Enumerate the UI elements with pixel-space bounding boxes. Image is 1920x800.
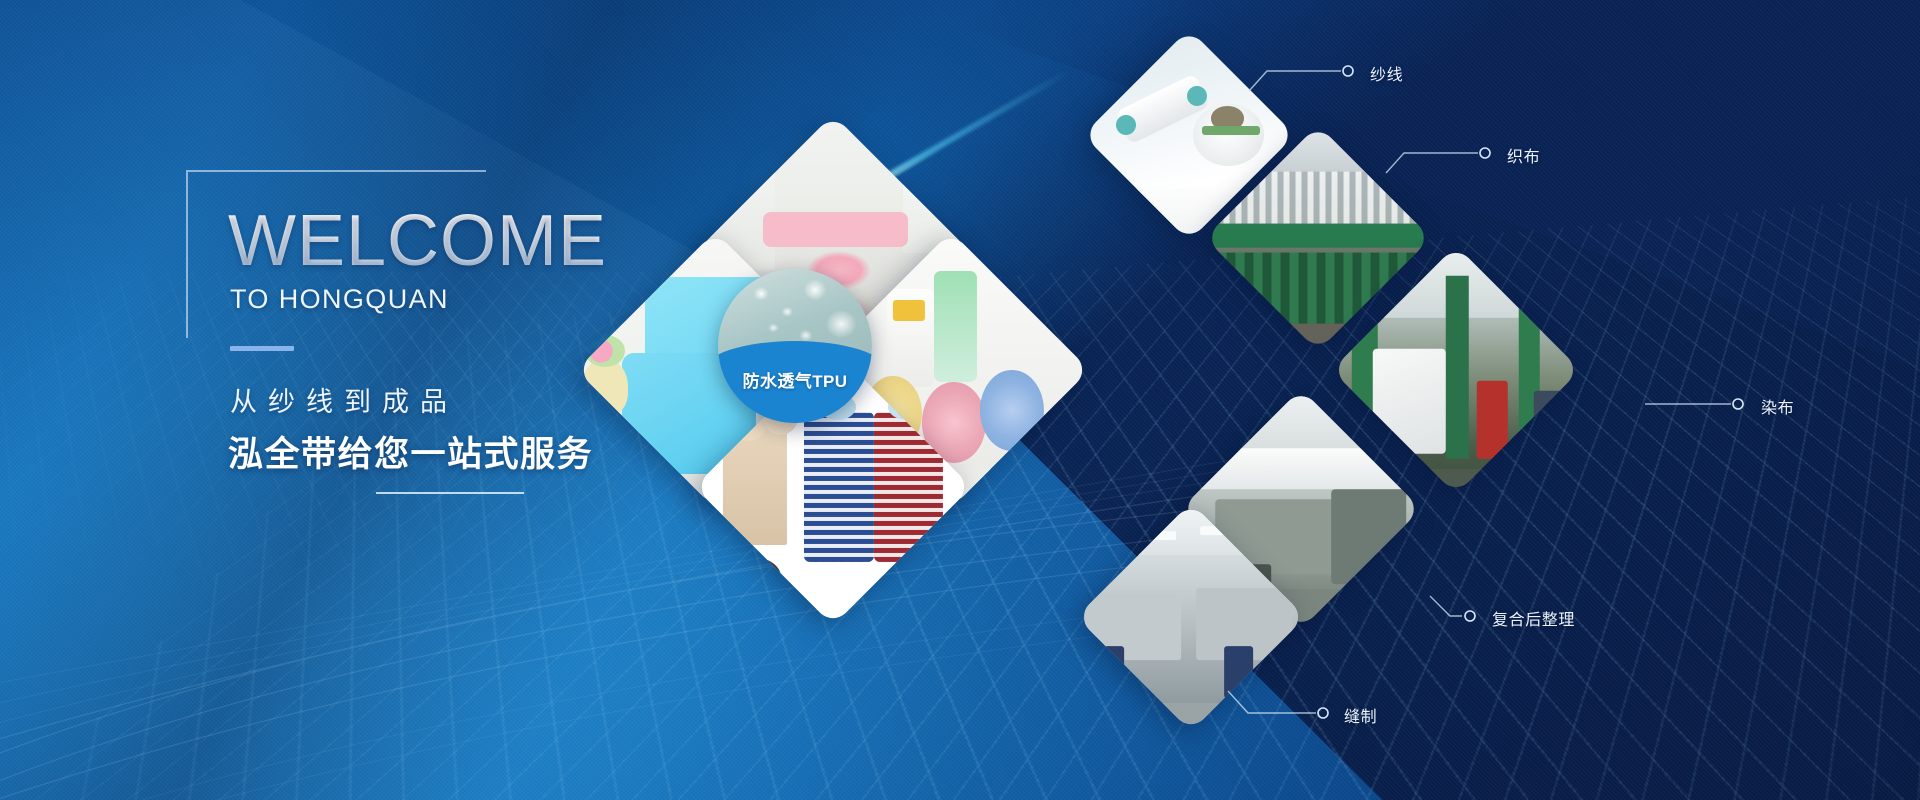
callout-label-sewing: 缝制 [1344,703,1377,727]
banner-stage: WELCOME TO HONGQUAN 从纱线到成品 泓全带给您一站式服务 [0,0,1920,800]
feature-badge-label: 防水透气TPU [718,367,872,392]
callout-sewing: 缝制 [1224,685,1524,729]
callout-label-yarn: 纱线 [1370,61,1403,85]
divider-line [376,492,524,494]
tagline: 从纱线到成品 [230,380,458,419]
page-title: WELCOME [228,206,607,277]
callout-weaving: 织布 [1382,137,1642,177]
accent-dash [230,346,294,351]
callout-yarn: 纱线 [1245,55,1505,95]
page-subtitle: TO HONGQUAN [230,284,449,315]
callout-label-laminating: 复合后整理 [1492,606,1575,630]
callout-dyeing: 染布 [1643,390,1903,420]
callout-laminating: 复合后整理 [1426,592,1726,632]
callout-label-dyeing: 染布 [1761,394,1794,418]
feature-badge[interactable]: 防水透气TPU [718,269,872,423]
headline-chinese: 泓全带给您一站式服务 [228,426,593,477]
callout-label-weaving: 织布 [1507,143,1540,167]
